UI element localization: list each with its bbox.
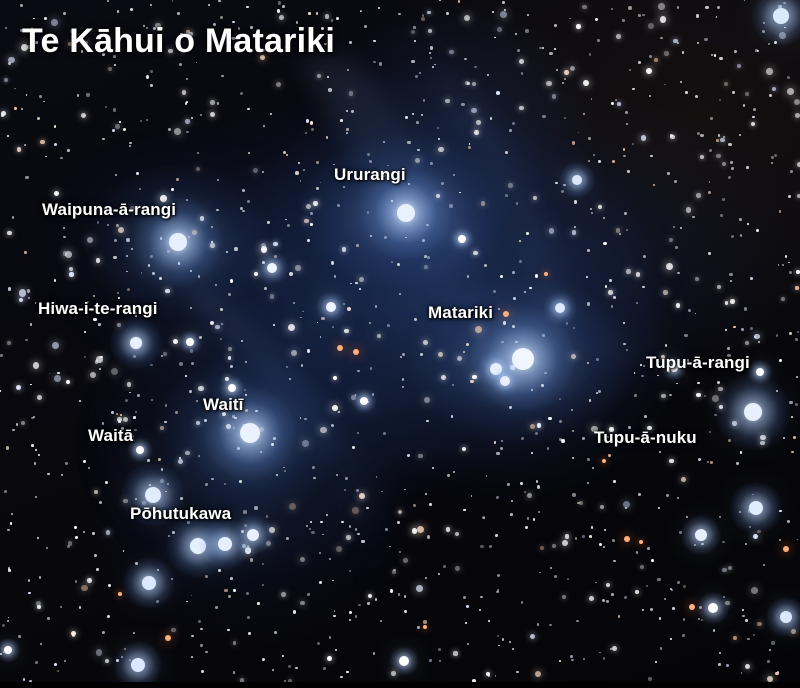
star-label-waipuna-a-rangi: Waipuna-ā-rangi: [42, 200, 176, 220]
star-label-waita: Waitā: [88, 426, 133, 446]
page-title: Te Kāhui o Matariki: [22, 22, 335, 61]
star-label-tupu-a-rangi: Tupu-ā-rangi: [646, 353, 750, 373]
matariki-star-chart: UrurangiWaipuna-ā-rangiHiwa-i-te-rangiMa…: [0, 0, 800, 688]
bottom-black-bar: [0, 682, 800, 688]
star-label-waiti: Waitī: [203, 395, 243, 415]
star-label-matariki: Matariki: [428, 303, 493, 323]
star-label-pohutukawa: Pōhutukawa: [130, 504, 231, 524]
star-label-ururangi: Ururangi: [334, 165, 406, 185]
star-label-hiwa-i-te-rangi: Hiwa-i-te-rangi: [38, 299, 158, 319]
star-label-tupu-a-nuku: Tupu-ā-nuku: [594, 428, 697, 448]
star-label-layer: UrurangiWaipuna-ā-rangiHiwa-i-te-rangiMa…: [0, 0, 800, 688]
